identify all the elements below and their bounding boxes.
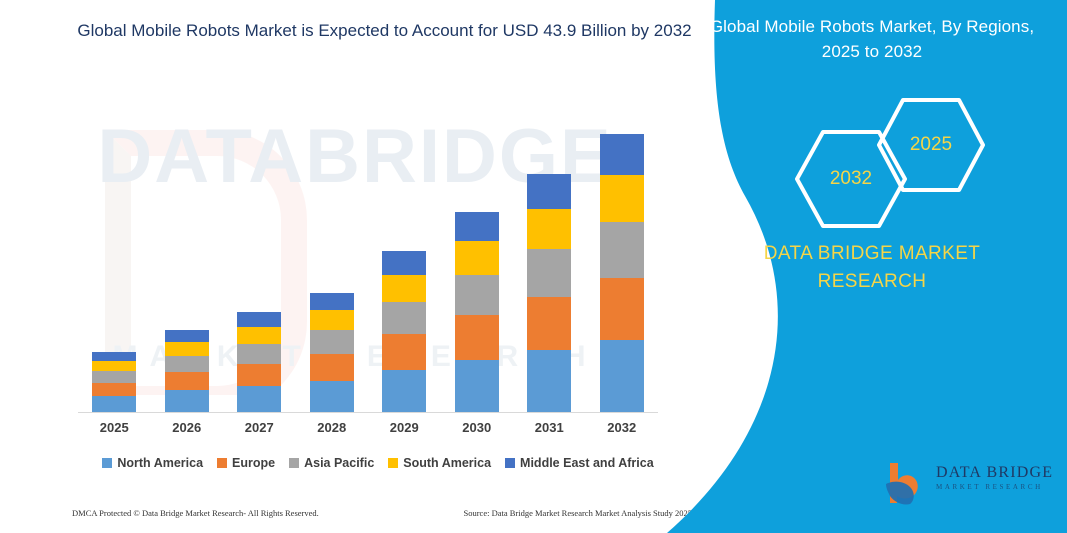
bar-segment[interactable]	[237, 344, 281, 364]
bar-segment[interactable]	[600, 222, 644, 278]
infographic-canvas: DATABRIDGE MARKET RESEARCH Global Mobile…	[0, 0, 1067, 533]
x-axis-label: 2031	[513, 420, 586, 435]
bar-segment[interactable]	[165, 330, 209, 342]
stacked-bar-2026[interactable]	[165, 330, 209, 412]
bar-segment[interactable]	[455, 360, 499, 412]
bar-segment[interactable]	[455, 241, 499, 275]
logo-text: DATA BRIDGE MARKET RESEARCH	[936, 464, 1053, 491]
bar-segment[interactable]	[310, 293, 354, 310]
logo-text-line2: MARKET RESEARCH	[936, 483, 1053, 491]
legend-swatch	[505, 458, 515, 468]
bar-segment[interactable]	[310, 330, 354, 354]
bar-segment[interactable]	[382, 334, 426, 370]
bar-segment[interactable]	[600, 134, 644, 175]
bar-segment[interactable]	[92, 371, 136, 383]
x-axis-label: 2032	[586, 420, 659, 435]
legend-item[interactable]: Europe	[217, 456, 275, 470]
legend-label: Middle East and Africa	[520, 456, 654, 470]
x-axis-label: 2025	[78, 420, 151, 435]
bar-segment[interactable]	[600, 340, 644, 412]
bar-slot	[223, 100, 296, 412]
legend-label: Asia Pacific	[304, 456, 374, 470]
x-axis-label: 2030	[441, 420, 514, 435]
bar-slot	[78, 100, 151, 412]
bar-segment[interactable]	[310, 381, 354, 412]
stacked-bar-chart	[78, 100, 658, 412]
footer-source: Source: Data Bridge Market Research Mark…	[463, 508, 692, 518]
bar-slot	[441, 100, 514, 412]
legend-swatch	[289, 458, 299, 468]
bar-segment[interactable]	[455, 212, 499, 241]
bar-slot	[151, 100, 224, 412]
footer-copyright: DMCA Protected © Data Bridge Market Rese…	[72, 508, 319, 518]
x-axis-label: 2027	[223, 420, 296, 435]
bar-slot	[586, 100, 659, 412]
legend-swatch	[217, 458, 227, 468]
bar-segment[interactable]	[92, 396, 136, 412]
bar-segment[interactable]	[527, 350, 571, 412]
bar-segment[interactable]	[527, 249, 571, 296]
stacked-bar-2032[interactable]	[600, 134, 644, 412]
stacked-bar-2030[interactable]	[455, 212, 499, 412]
bar-segment[interactable]	[600, 175, 644, 222]
legend-item[interactable]: North America	[102, 456, 203, 470]
bar-segment[interactable]	[237, 364, 281, 386]
bar-segment[interactable]	[165, 356, 209, 372]
x-axis-line	[78, 412, 658, 413]
bar-segment[interactable]	[165, 372, 209, 390]
logo-mark-icon	[884, 460, 930, 506]
bar-segment[interactable]	[310, 354, 354, 381]
stacked-bar-2031[interactable]	[527, 174, 571, 412]
bar-segment[interactable]	[237, 327, 281, 344]
bar-slot	[368, 100, 441, 412]
bar-segment[interactable]	[455, 275, 499, 315]
footer: DMCA Protected © Data Bridge Market Rese…	[72, 508, 692, 518]
bar-segment[interactable]	[92, 361, 136, 371]
bar-slot	[296, 100, 369, 412]
hexagon-label-2032: 2032	[793, 128, 909, 230]
stacked-bar-2029[interactable]	[382, 251, 426, 412]
bar-slot	[513, 100, 586, 412]
panel-title: Global Mobile Robots Market, By Regions,…	[707, 14, 1037, 64]
panel-brand: DATA BRIDGE MARKET RESEARCH	[707, 240, 1037, 296]
bar-segment[interactable]	[237, 312, 281, 327]
bar-segment[interactable]	[382, 302, 426, 334]
legend-label: South America	[403, 456, 491, 470]
logo-text-line1: DATA BRIDGE	[936, 464, 1053, 482]
bar-segment[interactable]	[527, 174, 571, 209]
hexagon-badge-2032: 2032	[793, 128, 909, 230]
bar-segment[interactable]	[382, 370, 426, 412]
company-logo: DATA BRIDGE MARKET RESEARCH	[884, 458, 1054, 510]
bar-segment[interactable]	[382, 275, 426, 302]
bar-segment[interactable]	[527, 297, 571, 350]
legend-item[interactable]: South America	[388, 456, 491, 470]
legend-swatch	[388, 458, 398, 468]
bar-segment[interactable]	[237, 386, 281, 412]
page-title: Global Mobile Robots Market is Expected …	[72, 18, 697, 44]
bar-segment[interactable]	[527, 209, 571, 250]
stacked-bar-2025[interactable]	[92, 352, 136, 412]
panel-brand-line1: DATA BRIDGE MARKET	[707, 240, 1037, 268]
bar-segment[interactable]	[600, 278, 644, 340]
chart-legend: North AmericaEuropeAsia PacificSouth Ame…	[78, 456, 678, 470]
bar-segment[interactable]	[165, 390, 209, 412]
legend-label: Europe	[232, 456, 275, 470]
panel-brand-line2: RESEARCH	[707, 268, 1037, 296]
legend-item[interactable]: Asia Pacific	[289, 456, 374, 470]
stacked-bar-2027[interactable]	[237, 312, 281, 412]
bar-segment[interactable]	[455, 315, 499, 360]
bar-segment[interactable]	[165, 342, 209, 356]
x-axis-label: 2029	[368, 420, 441, 435]
legend-item[interactable]: Middle East and Africa	[505, 456, 654, 470]
bar-segment[interactable]	[382, 251, 426, 274]
legend-swatch	[102, 458, 112, 468]
bar-segment[interactable]	[92, 383, 136, 396]
bar-segment[interactable]	[92, 352, 136, 361]
legend-label: North America	[117, 456, 203, 470]
x-axis-label: 2026	[151, 420, 224, 435]
hexagon-badges: 2025 2032	[697, 96, 1037, 211]
stacked-bar-2028[interactable]	[310, 293, 354, 412]
bar-segment[interactable]	[310, 310, 354, 330]
right-panel: Global Mobile Robots Market, By Regions,…	[667, 0, 1067, 533]
x-axis-label: 2028	[296, 420, 369, 435]
x-axis-labels: 20252026202720282029203020312032	[78, 420, 658, 435]
